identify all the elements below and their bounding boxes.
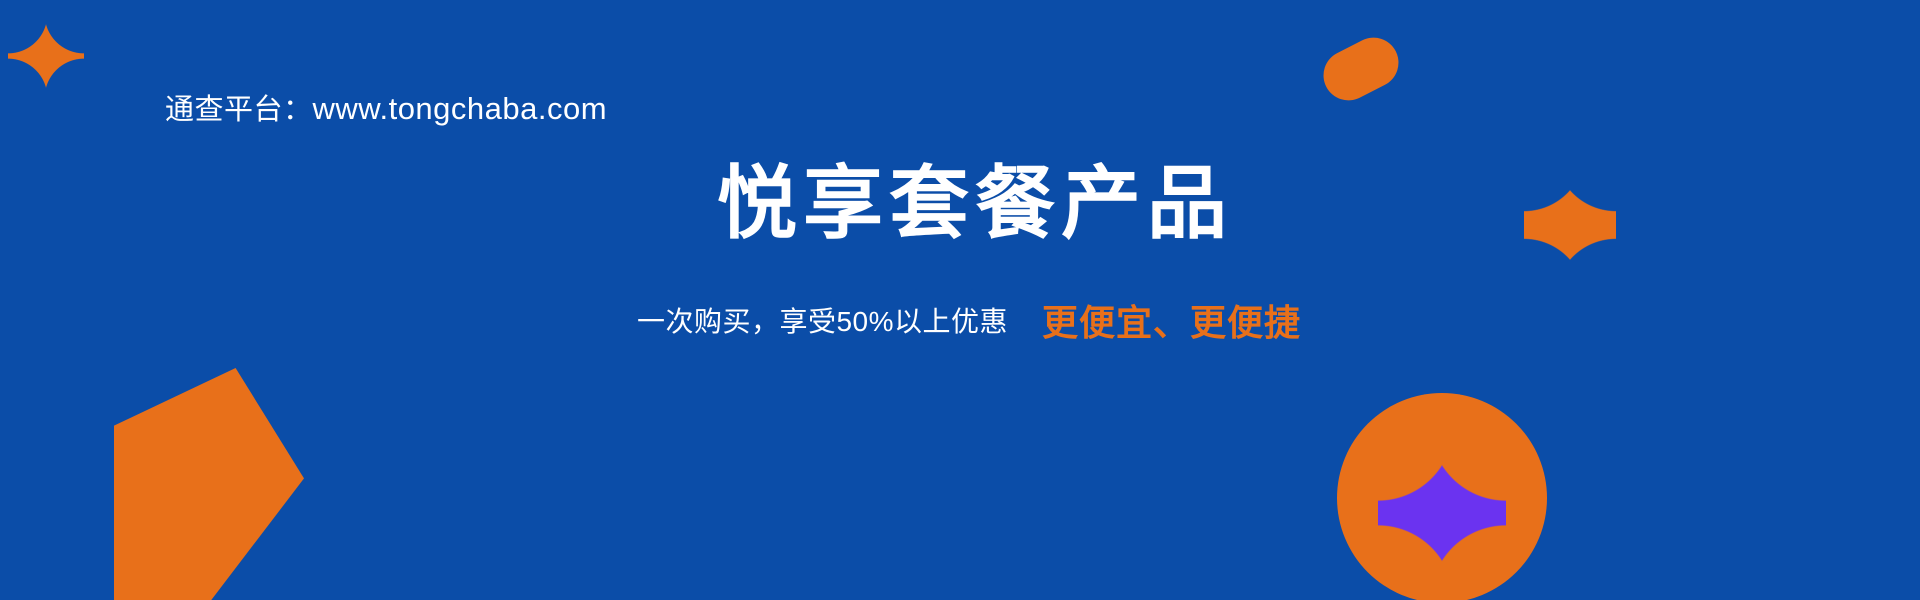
platform-url[interactable]: www.tongchaba.com [313, 91, 608, 126]
platform-line: 通查平台：www.tongchaba.com [165, 86, 607, 128]
platform-label: 通查平台： [165, 94, 313, 126]
four-point-star-icon [1378, 425, 1506, 600]
highlight-text: 更便宜、更便捷 [1042, 302, 1301, 343]
rounded-pill-shape [1315, 29, 1407, 109]
sparkle-star-icon [8, 14, 84, 98]
page-title: 悦享套餐产品 [0, 160, 1920, 248]
circle-shape [1337, 393, 1547, 600]
subtitle-row: 一次购买，享受50%以上优惠更便宜、更便捷 [0, 294, 1920, 346]
subtitle-text: 一次购买，享受50%以上优惠 [637, 306, 1008, 337]
promo-banner: 通查平台：www.tongchaba.com 悦享套餐产品 一次购买，享受50%… [0, 0, 1920, 600]
